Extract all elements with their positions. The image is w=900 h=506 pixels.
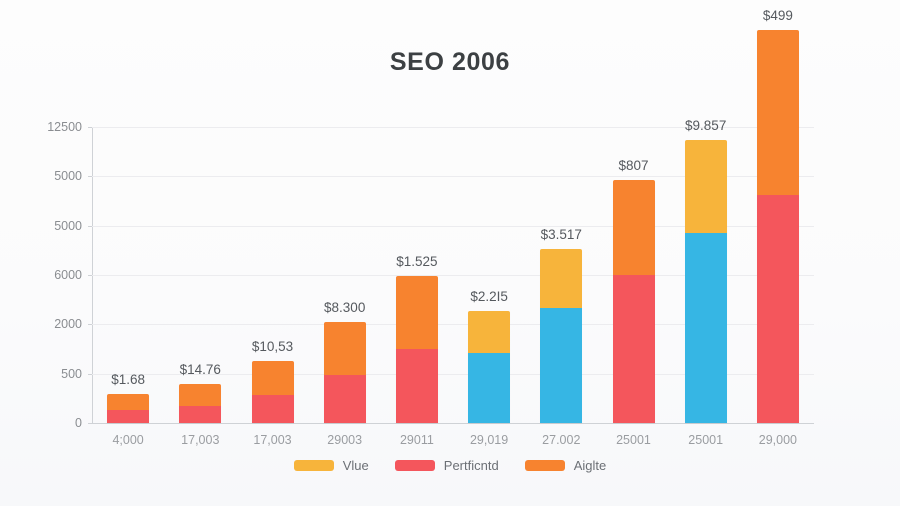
bar-stack[interactable] <box>468 311 510 423</box>
bar-group[interactable]: $9.857 <box>685 127 727 423</box>
y-axis-tick-label: 2000 <box>54 317 82 331</box>
y-axis-tick-label: 6000 <box>54 268 82 282</box>
legend-swatch <box>395 460 435 471</box>
bar-segment[interactable] <box>179 384 221 406</box>
bar-stack[interactable] <box>179 384 221 423</box>
bar-value-label: $3.517 <box>501 227 621 242</box>
y-axis-tick-label: 5000 <box>54 169 82 183</box>
bar-value-label: $2.2I5 <box>429 289 549 304</box>
legend-item[interactable]: Pertficntd <box>395 458 499 473</box>
bar-group[interactable]: $807 <box>613 127 655 423</box>
y-axis-tick-label: 12500 <box>47 120 82 134</box>
bar-segment[interactable] <box>324 375 366 423</box>
legend-item[interactable]: Vlue <box>294 458 369 473</box>
bar-stack[interactable] <box>757 30 799 423</box>
bar-group[interactable]: $10,53 <box>252 127 294 423</box>
bar-segment[interactable] <box>685 140 727 233</box>
bar-segment[interactable] <box>757 195 799 423</box>
bar-group[interactable]: $1.68 <box>107 127 149 423</box>
bar-segment[interactable] <box>107 410 149 423</box>
bar-segment[interactable] <box>396 276 438 349</box>
bar-segment[interactable] <box>179 406 221 423</box>
bar-group[interactable]: $499 <box>757 127 799 423</box>
legend-label: Vlue <box>343 458 369 473</box>
bar-value-label: $9.857 <box>646 118 766 133</box>
legend-swatch <box>525 460 565 471</box>
y-axis-tick-label: 0 <box>75 416 82 430</box>
bar-value-label: $10,53 <box>213 339 333 354</box>
bar-stack[interactable] <box>324 322 366 423</box>
bar-group[interactable]: $14.76 <box>179 127 221 423</box>
chart-legend: VluePertficntdAiglte <box>0 458 900 473</box>
bar-stack[interactable] <box>685 140 727 423</box>
y-axis-tick-label: 5000 <box>54 219 82 233</box>
bar-stack[interactable] <box>107 394 149 423</box>
legend-label: Pertficntd <box>444 458 499 473</box>
bar-stack[interactable] <box>613 180 655 423</box>
x-axis-tick-label: 29,000 <box>723 433 833 447</box>
bar-group[interactable]: $1.525 <box>396 127 438 423</box>
legend-swatch <box>294 460 334 471</box>
plot-area: $1.68$14.76$10,53$8.300$1.525$2.2I5$3.51… <box>92 127 814 423</box>
bar-segment[interactable] <box>252 361 294 395</box>
bar-segment[interactable] <box>540 308 582 423</box>
bar-group[interactable]: $8.300 <box>324 127 366 423</box>
bar-segment[interactable] <box>685 233 727 423</box>
bar-segment[interactable] <box>540 249 582 308</box>
bar-segment[interactable] <box>468 311 510 353</box>
bar-segment[interactable] <box>324 322 366 375</box>
bar-stack[interactable] <box>252 361 294 423</box>
chart-card: SEO 2006 1250050005000600020005000 $1.68… <box>0 0 900 506</box>
bar-value-label: $1.525 <box>357 254 477 269</box>
bar-value-label: $499 <box>718 8 838 23</box>
bar-value-label: $807 <box>574 158 694 173</box>
bar-group[interactable]: $2.2I5 <box>468 127 510 423</box>
x-axis-line <box>92 423 814 424</box>
bar-segment[interactable] <box>107 394 149 410</box>
bar-segment[interactable] <box>757 30 799 195</box>
legend-label: Aiglte <box>574 458 607 473</box>
legend-item[interactable]: Aiglte <box>525 458 607 473</box>
bar-segment[interactable] <box>468 353 510 423</box>
bar-segment[interactable] <box>613 180 655 275</box>
bar-stack[interactable] <box>540 249 582 423</box>
bar-segment[interactable] <box>252 395 294 423</box>
bar-value-label: $14.76 <box>140 362 260 377</box>
bar-value-label: $8.300 <box>285 300 405 315</box>
bar-segment[interactable] <box>613 275 655 423</box>
bar-segment[interactable] <box>396 349 438 423</box>
